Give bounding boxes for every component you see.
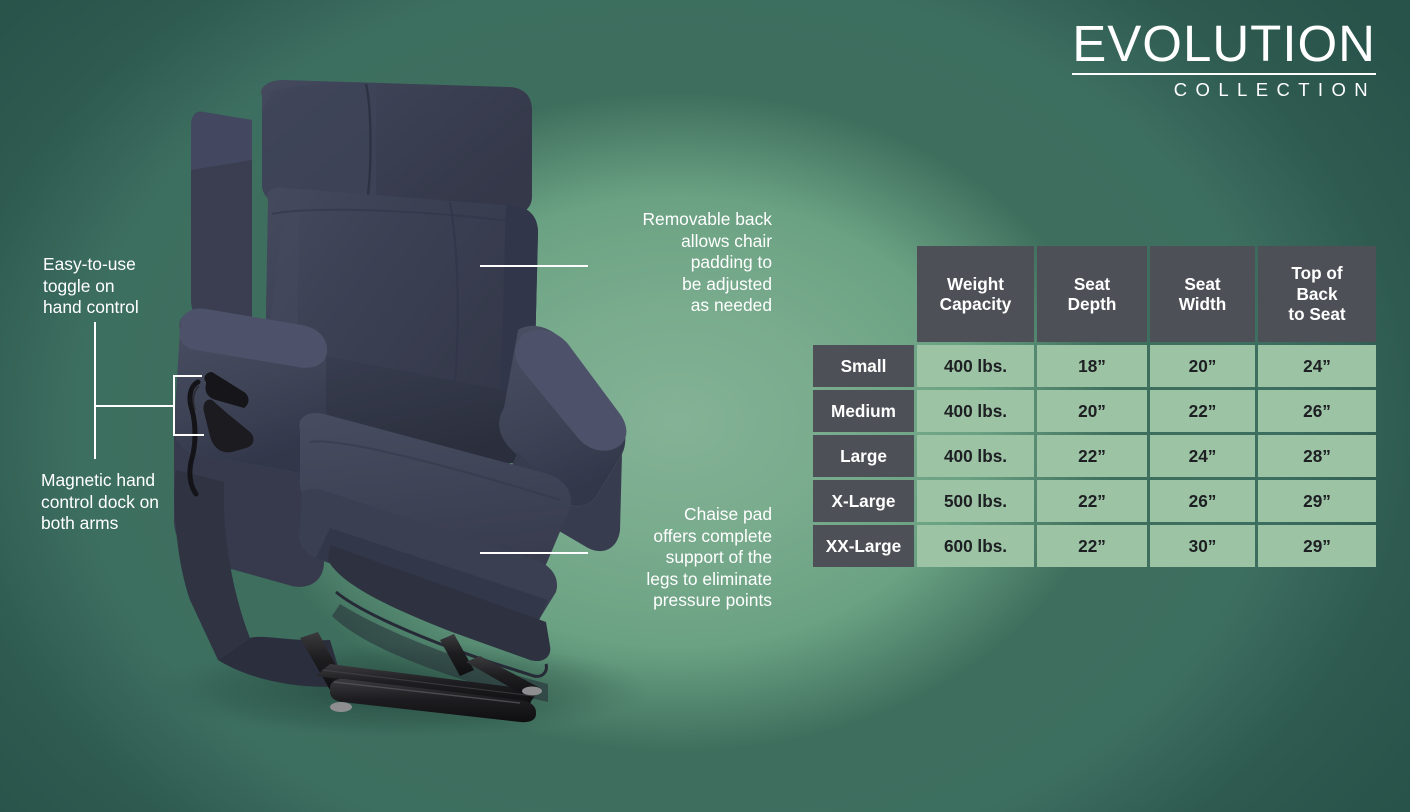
row-label-x-large: X-Large xyxy=(813,480,914,522)
cell-small-seat-depth: 18” xyxy=(1037,345,1147,387)
row-label-small: Small xyxy=(813,345,914,387)
callout-magnetic-hand-control-dock: Magnetic hand control dock on both arms xyxy=(41,470,241,535)
table-row: XX-Large 600 lbs. 22” 30” 29” xyxy=(813,525,1376,567)
callout-easy-to-use-toggle: Easy-to-use toggle on hand control xyxy=(43,254,233,319)
cell-medium-seat-depth: 20” xyxy=(1037,390,1147,432)
column-header-seat-depth: Seat Depth xyxy=(1037,246,1147,342)
specifications-table: Weight Capacity Seat Depth Seat Width To… xyxy=(810,243,1361,570)
cell-x-large-seat-depth: 22” xyxy=(1037,480,1147,522)
cell-small-seat-width: 20” xyxy=(1150,345,1255,387)
cell-x-large-weight-capacity: 500 lbs. xyxy=(917,480,1034,522)
cell-large-seat-width: 24” xyxy=(1150,435,1255,477)
column-header-top-of-back-to-seat: Top of Back to Seat xyxy=(1258,246,1376,342)
table-corner-cell xyxy=(813,246,914,342)
cell-large-seat-depth: 22” xyxy=(1037,435,1147,477)
brand-divider xyxy=(1072,73,1376,75)
callout-chaise-pad: Chaise pad offers complete support of th… xyxy=(590,504,772,612)
cell-medium-weight-capacity: 400 lbs. xyxy=(917,390,1034,432)
cell-small-top-of-back-to-seat: 24” xyxy=(1258,345,1376,387)
table-row: X-Large 500 lbs. 22” 26” 29” xyxy=(813,480,1376,522)
column-header-seat-width: Seat Width xyxy=(1150,246,1255,342)
leader-bracket-vertical xyxy=(173,375,175,436)
table-row: Large 400 lbs. 22” 24” 28” xyxy=(813,435,1376,477)
brand-lockup: EVOLUTION COLLECTION xyxy=(1072,18,1376,101)
cell-medium-top-of-back-to-seat: 26” xyxy=(1258,390,1376,432)
table-row: Small 400 lbs. 18” 20” 24” xyxy=(813,345,1376,387)
cell-large-weight-capacity: 400 lbs. xyxy=(917,435,1034,477)
leader-bracket-bottom-arm xyxy=(173,434,204,436)
leader-line-left-vertical xyxy=(94,322,96,459)
row-label-xx-large: XX-Large xyxy=(813,525,914,567)
brand-tagline: COLLECTION xyxy=(1072,79,1376,101)
cell-medium-seat-width: 22” xyxy=(1150,390,1255,432)
cell-x-large-seat-width: 26” xyxy=(1150,480,1255,522)
callout-removable-back: Removable back allows chair padding to b… xyxy=(590,209,772,317)
table-header-row: Weight Capacity Seat Depth Seat Width To… xyxy=(813,246,1376,342)
marketing-infographic: EVOLUTION COLLECTION Easy-to-use toggle … xyxy=(0,0,1410,812)
row-label-medium: Medium xyxy=(813,390,914,432)
cell-xx-large-seat-depth: 22” xyxy=(1037,525,1147,567)
row-label-large: Large xyxy=(813,435,914,477)
leader-bracket-top-arm xyxy=(173,375,202,377)
table-row: Medium 400 lbs. 20” 22” 26” xyxy=(813,390,1376,432)
brand-name: EVOLUTION xyxy=(1072,18,1376,70)
leader-line-removable-back xyxy=(480,265,588,267)
cell-xx-large-weight-capacity: 600 lbs. xyxy=(917,525,1034,567)
cell-xx-large-seat-width: 30” xyxy=(1150,525,1255,567)
cell-small-weight-capacity: 400 lbs. xyxy=(917,345,1034,387)
cell-xx-large-top-of-back-to-seat: 29” xyxy=(1258,525,1376,567)
leader-line-chaise-pad xyxy=(480,552,588,554)
column-header-weight-capacity: Weight Capacity xyxy=(917,246,1034,342)
leader-line-left-horizontal xyxy=(94,405,174,407)
cell-large-top-of-back-to-seat: 28” xyxy=(1258,435,1376,477)
cell-x-large-top-of-back-to-seat: 29” xyxy=(1258,480,1376,522)
